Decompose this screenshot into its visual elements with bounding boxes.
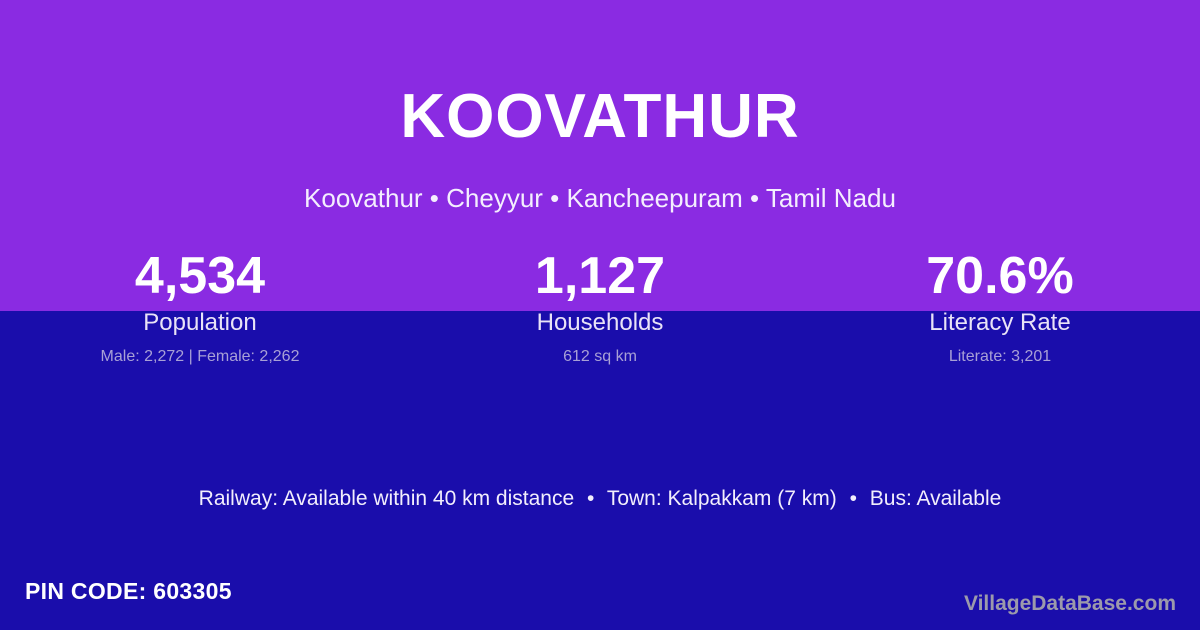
- stat-value-literacy: 70.6%: [800, 248, 1200, 304]
- facility-railway: Railway: Available within 40 km distance: [199, 487, 574, 510]
- stat-value-population: 4,534: [0, 248, 400, 304]
- page-title: KOOVATHUR: [0, 86, 1200, 148]
- facility-separator: •: [843, 487, 864, 510]
- breadcrumb: Koovathur • Cheyyur • Kancheepuram • Tam…: [0, 184, 1200, 213]
- village-info-card: KOOVATHUR Koovathur • Cheyyur • Kancheep…: [0, 0, 1200, 630]
- stat-block-households: 1,127 Households 612 sq km: [400, 248, 800, 365]
- stat-label-population: Population: [0, 310, 400, 336]
- facility-separator: •: [580, 487, 601, 510]
- stat-label-households: Households: [400, 310, 800, 336]
- stats-row: 4,534 Population Male: 2,272 | Female: 2…: [0, 248, 1200, 365]
- stat-detail-population: Male: 2,272 | Female: 2,262: [0, 348, 400, 366]
- stat-block-population: 4,534 Population Male: 2,272 | Female: 2…: [0, 248, 400, 365]
- facility-bus: Bus: Available: [870, 487, 1002, 510]
- facility-town: Town: Kalpakkam (7 km): [607, 487, 837, 510]
- stat-detail-households: 612 sq km: [400, 348, 800, 366]
- stat-detail-literacy: Literate: 3,201: [800, 348, 1200, 366]
- stat-label-literacy: Literacy Rate: [800, 310, 1200, 336]
- site-brand-watermark: VillageDataBase.com: [964, 591, 1176, 616]
- stat-block-literacy: 70.6% Literacy Rate Literate: 3,201: [800, 248, 1200, 365]
- stat-value-households: 1,127: [400, 248, 800, 304]
- facilities-row: Railway: Available within 40 km distance…: [0, 486, 1200, 511]
- pin-code-label: PIN CODE: 603305: [25, 578, 232, 606]
